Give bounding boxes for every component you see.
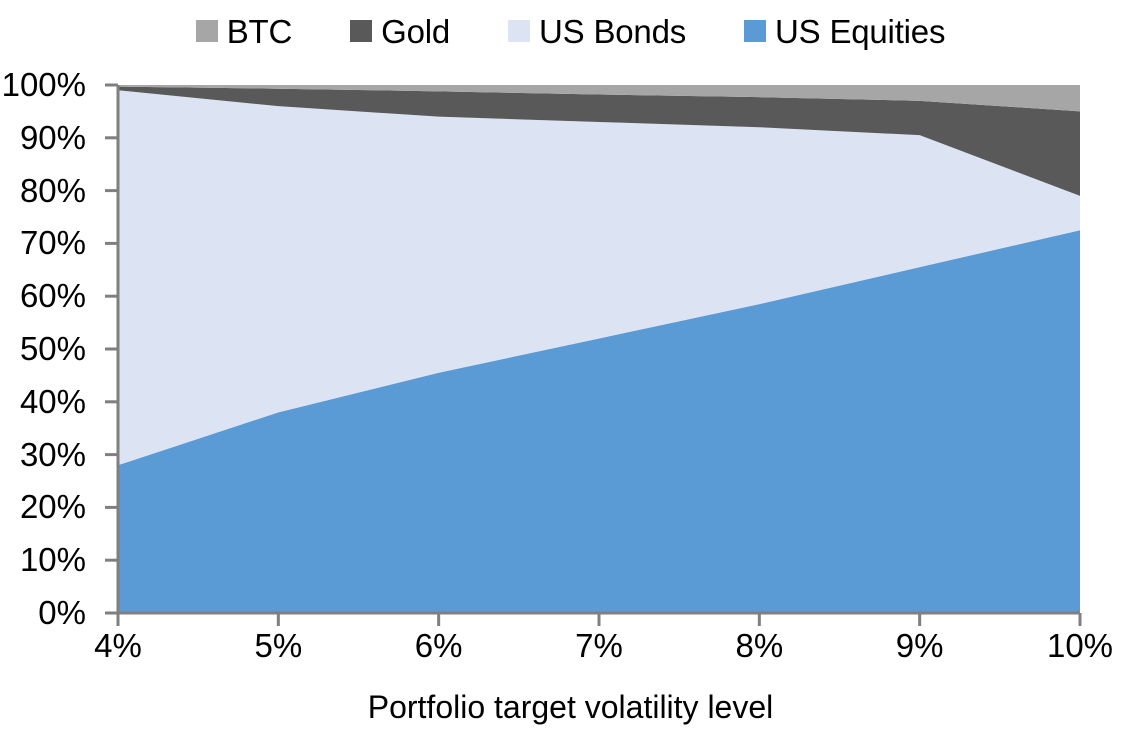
- y-tick-label: 60%: [0, 279, 96, 312]
- x-tick-label: 4%: [94, 628, 142, 664]
- y-tick-label: 70%: [0, 226, 96, 259]
- x-axis-title: Portfolio target volatility level: [0, 688, 1141, 726]
- y-tick-label: 100%: [0, 68, 96, 101]
- y-tick-label: 30%: [0, 438, 96, 471]
- x-axis-labels: 4%5%6%7%8%9%10%: [0, 628, 1141, 672]
- x-tick-label: 8%: [735, 628, 783, 664]
- x-tick-label: 7%: [575, 628, 623, 664]
- x-tick-label: 9%: [896, 628, 944, 664]
- stacked-area-chart: BTC Gold US Bonds US Equities 100%90%80%…: [0, 0, 1141, 742]
- y-tick-label: 80%: [0, 174, 96, 207]
- x-tick-label: 10%: [1047, 628, 1113, 664]
- y-tick-label: 20%: [0, 490, 96, 523]
- x-tick-label: 6%: [415, 628, 463, 664]
- y-tick-label: 10%: [0, 543, 96, 576]
- y-tick-label: 90%: [0, 121, 96, 154]
- y-tick-label: 50%: [0, 332, 96, 365]
- y-tick-label: 40%: [0, 385, 96, 418]
- area-series-group: [118, 85, 1080, 613]
- x-tick-label: 5%: [254, 628, 302, 664]
- y-tick-label: 0%: [0, 596, 96, 629]
